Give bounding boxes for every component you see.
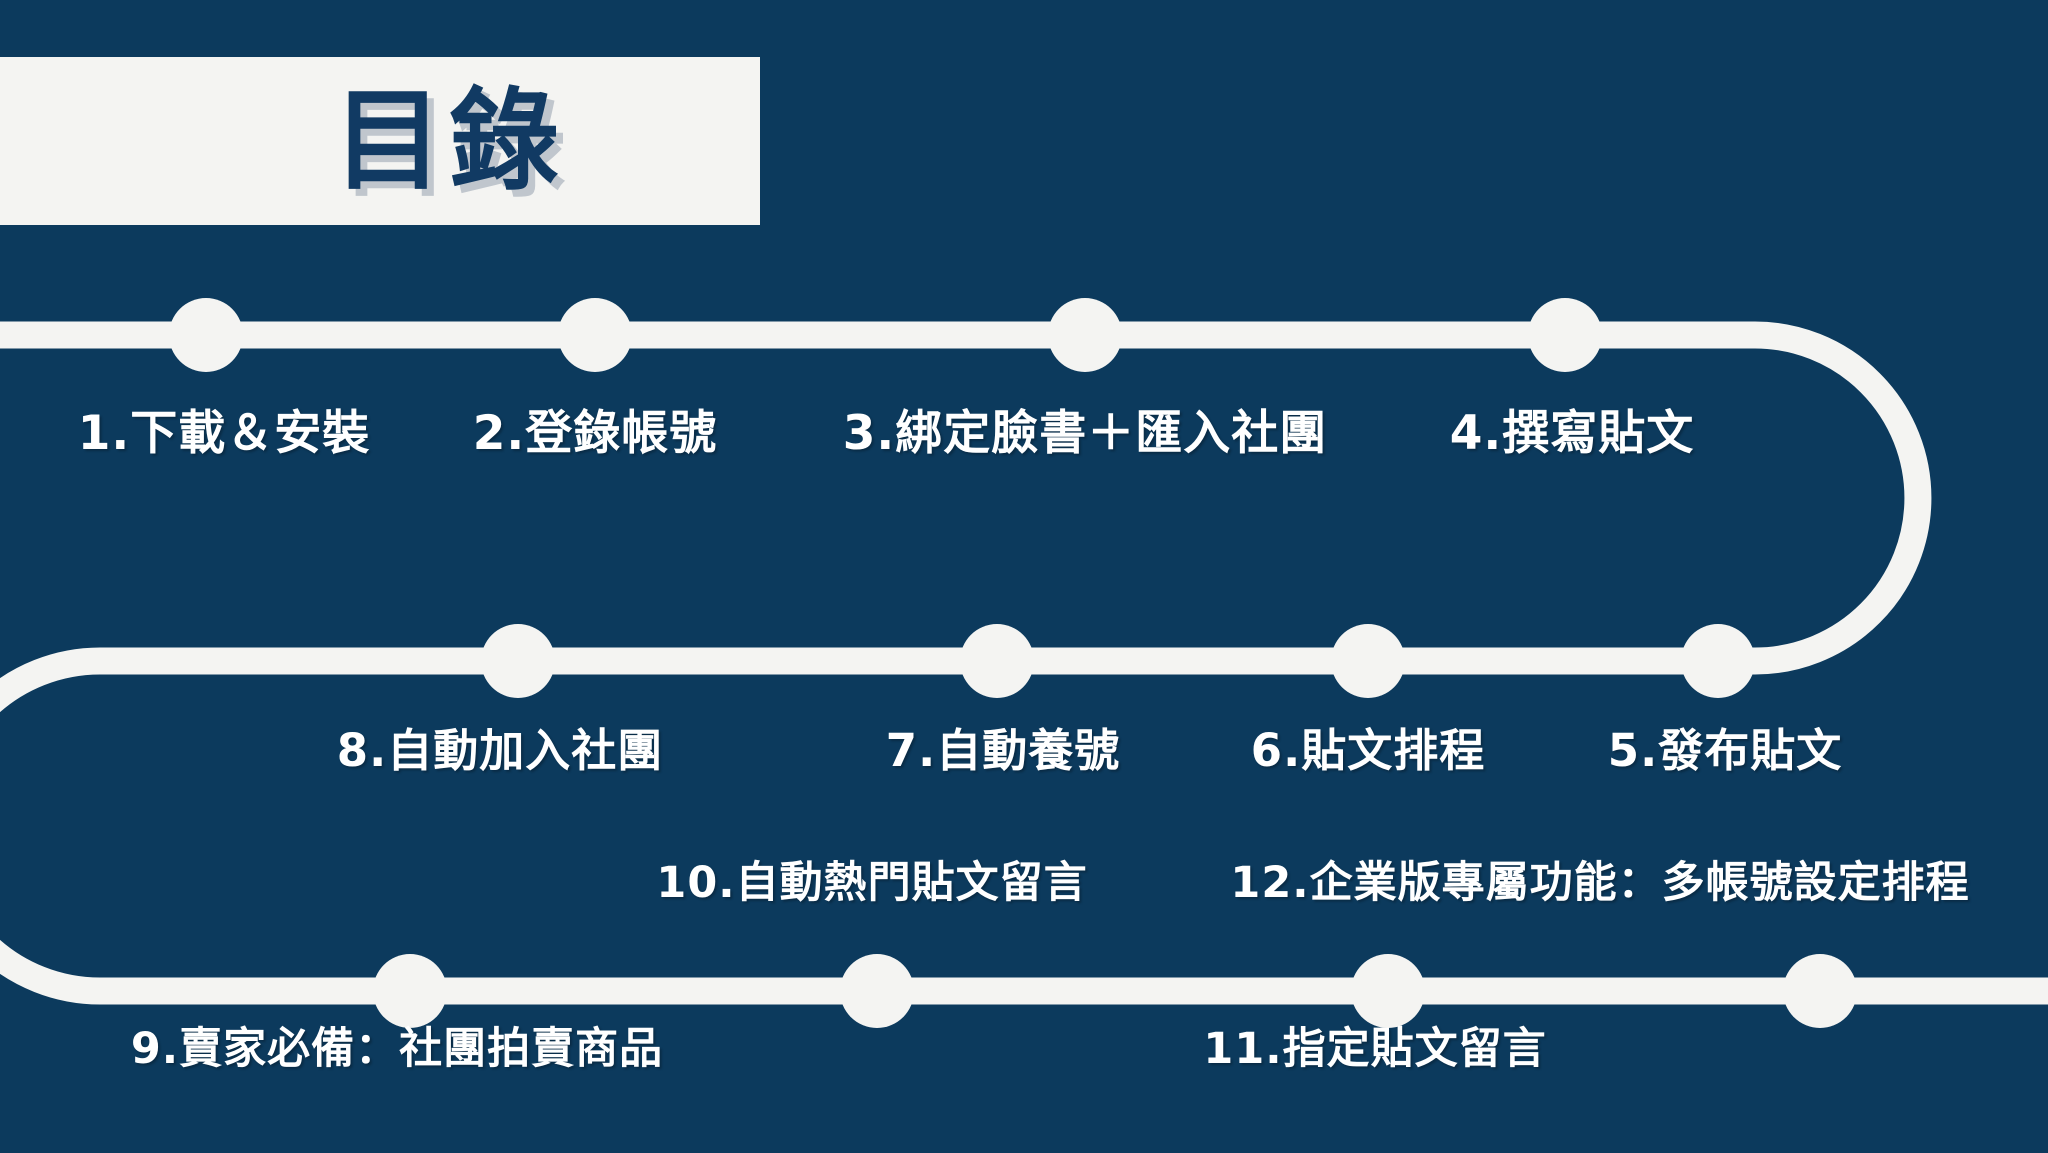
slide-root: 目錄 1.下載＆安裝 2.登錄帳號 3.綁定臉書＋匯入社團 4.撰寫貼文 8.自… [0,0,2048,1153]
node-dot-10[interactable] [840,954,914,1028]
node-dot-2[interactable] [558,298,632,372]
node-dot-3[interactable] [1048,298,1122,372]
node-label-2: 2.登錄帳號 [473,410,718,457]
node-dot-4[interactable] [1528,298,1602,372]
node-label-1: 1.下載＆安裝 [78,410,371,457]
node-label-11: 11.指定貼文留言 [1203,1028,1546,1071]
node-label-3: 3.綁定臉書＋匯入社團 [843,410,1328,457]
title-banner: 目錄 [0,57,760,225]
node-label-5: 5.發布貼文 [1608,728,1842,773]
node-dot-8[interactable] [481,624,555,698]
node-dot-1[interactable] [169,298,243,372]
node-dot-11[interactable] [1351,954,1425,1028]
node-label-4: 4.撰寫貼文 [1450,410,1695,457]
page-title: 目錄 [333,86,565,196]
node-dot-9[interactable] [373,954,447,1028]
node-dot-6[interactable] [1331,624,1405,698]
node-dot-7[interactable] [960,624,1034,698]
node-label-6: 6.貼文排程 [1251,728,1485,773]
node-label-7: 7.自動養號 [886,728,1120,773]
node-label-10: 10.自動熱門貼文留言 [656,862,1087,905]
node-label-12: 12.企業版專屬功能：多帳號設定排程 [1230,862,1969,905]
node-dot-12[interactable] [1783,954,1857,1028]
node-label-8: 8.自動加入社團 [337,728,663,773]
node-label-9: 9.賣家必備：社團拍賣商品 [131,1028,663,1071]
node-dot-5[interactable] [1681,624,1755,698]
